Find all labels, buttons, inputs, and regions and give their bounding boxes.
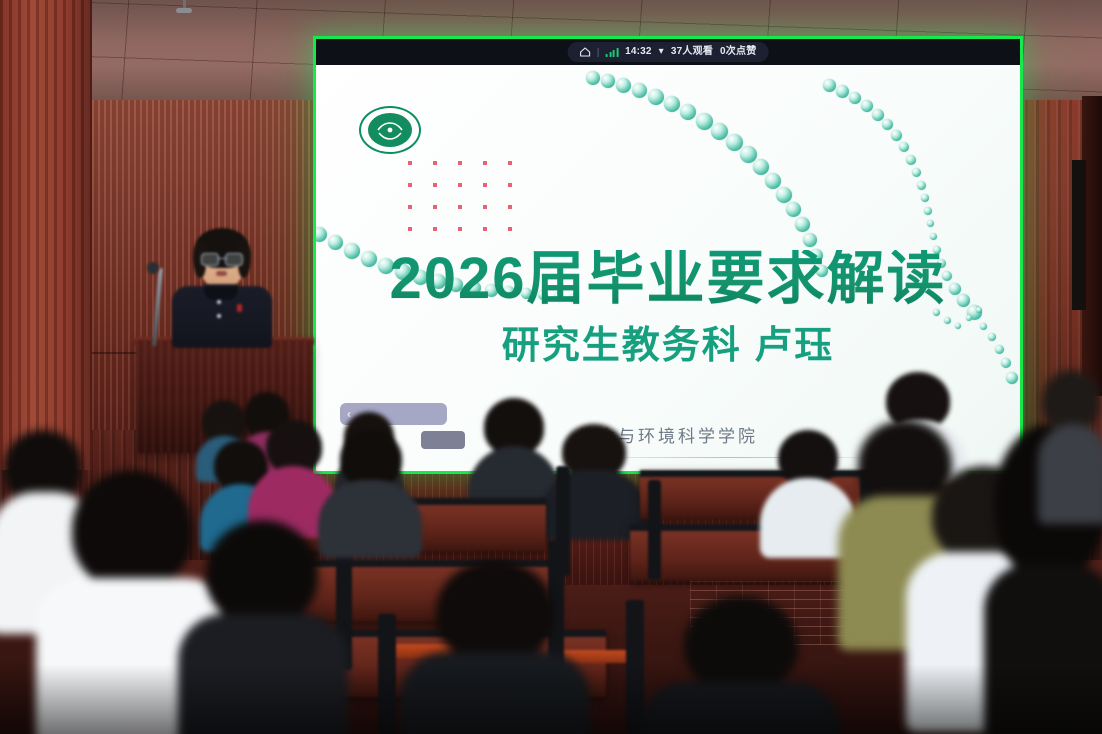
decorative-dot-grid xyxy=(408,161,512,231)
chevron-down-icon[interactable]: ▾ xyxy=(659,47,664,57)
home-icon[interactable] xyxy=(580,47,591,57)
presentation-screen[interactable]: 14:32 ▾ 37人观看 0次点赞 xyxy=(313,36,1023,474)
screenshot-root: 14:32 ▾ 37人观看 0次点赞 xyxy=(0,0,1102,734)
wall-pillar-left xyxy=(0,0,92,470)
screen-inner: 14:32 ▾ 37人观看 0次点赞 xyxy=(316,39,1020,471)
screen-status-bar: 14:32 ▾ 37人观看 0次点赞 xyxy=(316,39,1020,65)
microphone-head-icon xyxy=(147,262,159,274)
slide-subtitle: 研究生教务科 卢珏 xyxy=(316,327,1020,365)
university-seal-logo xyxy=(359,106,421,154)
status-bar-pill[interactable]: 14:32 ▾ 37人观看 0次点赞 xyxy=(568,42,769,62)
overlay-chip[interactable] xyxy=(421,431,465,449)
slide-content: 2026届毕业要求解读 研究生教务科 卢珏 生命与环境科学学院 ‹ xyxy=(316,65,1020,471)
chevron-left-icon: ‹ xyxy=(347,407,351,421)
stage-grill-pattern xyxy=(690,575,990,645)
status-time: 14:32 xyxy=(625,47,652,57)
foreground-shadow xyxy=(0,664,1102,734)
slide-divider xyxy=(566,457,896,458)
stage-platform xyxy=(320,455,1020,585)
presenter xyxy=(168,228,276,346)
shirt-emblem xyxy=(237,304,242,312)
status-divider xyxy=(598,48,599,57)
back-button[interactable]: ‹ xyxy=(340,403,447,425)
slide-title: 2026届毕业要求解读 xyxy=(316,250,1020,308)
eyeglasses xyxy=(201,253,243,264)
signal-bars-icon xyxy=(606,48,619,57)
podium xyxy=(136,341,312,453)
sprinkler-head-icon xyxy=(176,0,192,16)
like-count: 0次点赞 xyxy=(720,47,756,57)
wall-recess-right xyxy=(1072,160,1086,310)
viewer-count: 37人观看 xyxy=(671,47,713,57)
